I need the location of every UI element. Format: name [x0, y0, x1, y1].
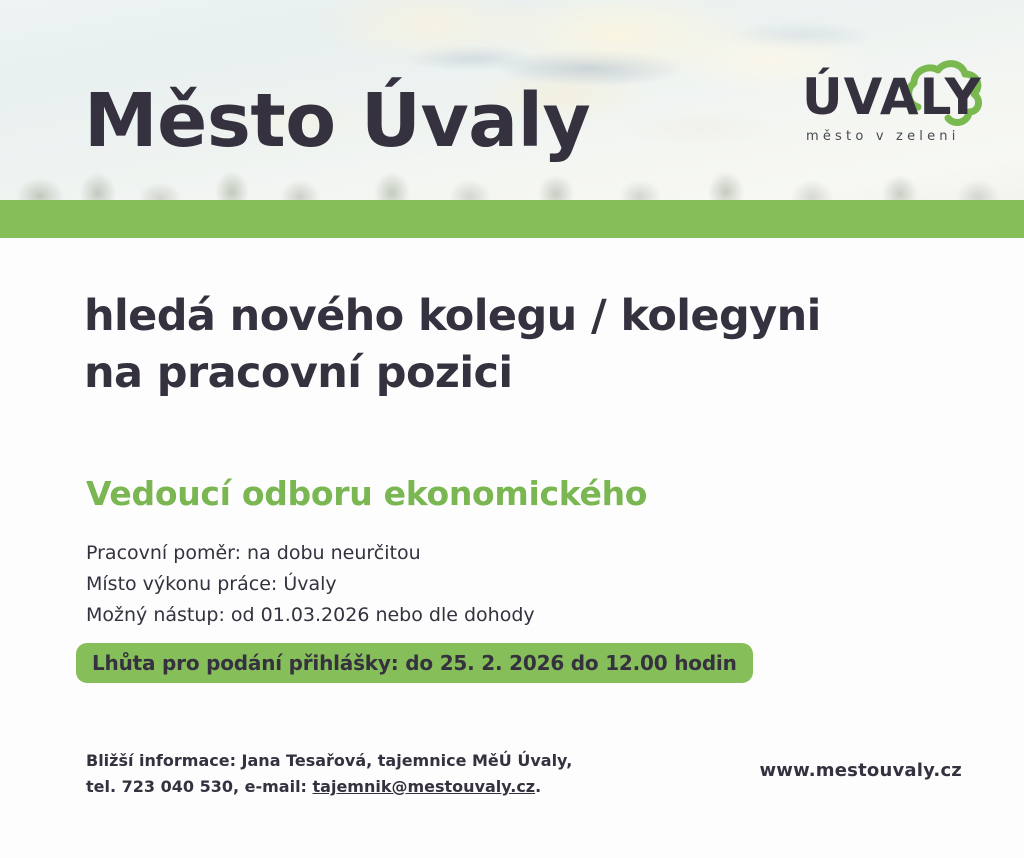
application-deadline-badge: Lhůta pro podání přihlášky: do 25. 2. 20…: [76, 643, 753, 683]
uvaly-logo: ÚVALY město v zeleni: [802, 52, 1002, 150]
contact-email-link[interactable]: tajemnik@mestouvaly.cz: [313, 777, 536, 796]
lead-headline: hledá nového kolegu / kolegyni na pracov…: [84, 288, 944, 402]
contact-info: Bližší informace: Jana Tesařová, tajemni…: [86, 748, 572, 800]
position-details: Pracovní poměr: na dobu neurčitou Místo …: [86, 538, 535, 631]
lead-line-1: hledá nového kolegu / kolegyni: [84, 288, 944, 345]
svg-text:ÚVALY: ÚVALY: [802, 67, 982, 126]
page-title: Město Úvaly: [84, 84, 590, 158]
contact-line-2-prefix: tel. 723 040 530, e-mail:: [86, 777, 313, 796]
green-divider-band: [0, 200, 1024, 238]
uvaly-wordmark: ÚVALY: [802, 67, 982, 126]
contact-line-1: Bližší informace: Jana Tesařová, tajemni…: [86, 748, 572, 774]
lead-line-2: na pracovní pozici: [84, 345, 944, 402]
detail-workplace: Místo výkonu práce: Úvaly: [86, 569, 535, 600]
header-banner: Město Úvaly ÚVALY město v zeleni: [0, 0, 1024, 200]
contact-line-2: tel. 723 040 530, e-mail: tajemnik@mesto…: [86, 774, 572, 800]
detail-start-date: Možný nástup: od 01.03.2026 nebo dle doh…: [86, 600, 535, 631]
job-posting-poster: Město Úvaly ÚVALY město v zeleni hledá n…: [0, 0, 1024, 858]
uvaly-logo-svg: ÚVALY město v zeleni: [802, 52, 1002, 150]
position-title: Vedoucí odboru ekonomického: [86, 474, 647, 513]
website-url[interactable]: www.mestouvaly.cz: [759, 760, 962, 781]
contact-line-2-suffix: .: [535, 777, 541, 796]
logo-tagline: město v zeleni: [806, 129, 960, 144]
detail-employment-type: Pracovní poměr: na dobu neurčitou: [86, 538, 535, 569]
